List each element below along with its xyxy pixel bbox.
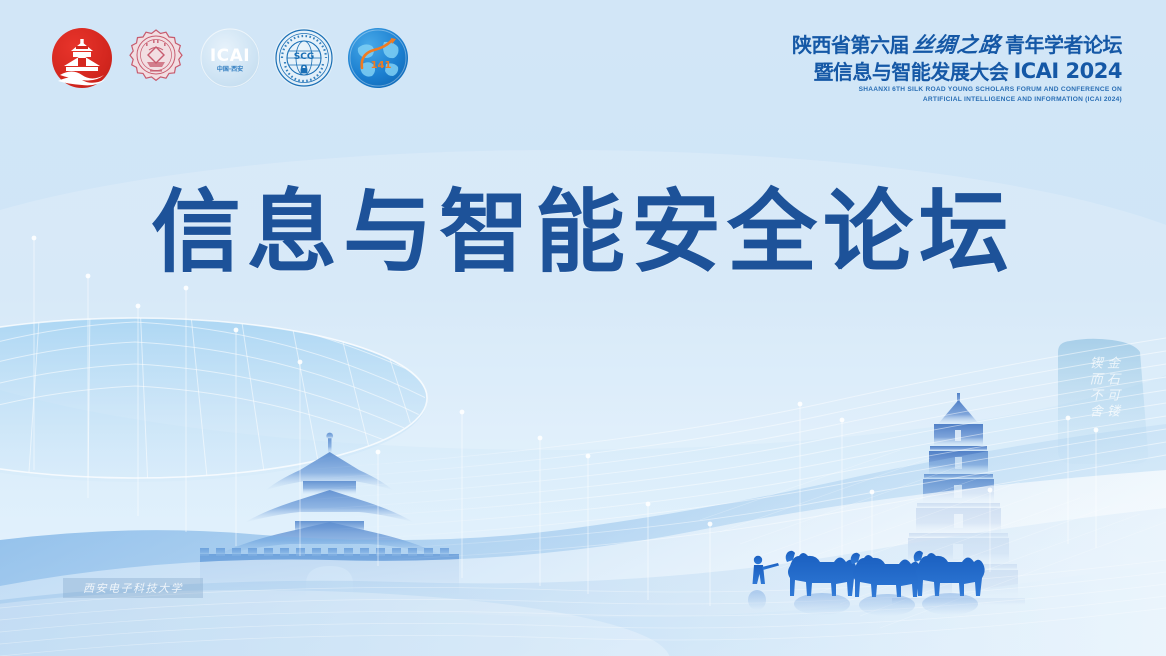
conference-english-subtitle: SHAANXI 6TH SILK ROAD YOUNG SCHOLARS FOR…	[792, 85, 1122, 104]
conference-wordmark: 陕西省第六届 丝绸之路 青年学者论坛 暨信息与智能发展大会 ICAI 2024 …	[792, 30, 1122, 104]
scg-emblem-icon: SCG	[274, 28, 334, 88]
stele-column-right: 金石可镂	[1104, 356, 1118, 466]
conference-english-line-2: ARTIFICIAL INTELLIGENCE AND INFORMATION …	[792, 95, 1122, 105]
conference-english-line-1: SHAANXI 6TH SILK ROAD YOUNG SCHOLARS FOR…	[792, 85, 1122, 95]
university-plaque-text: 西安电子科技大学	[83, 580, 183, 596]
university-plaque: 西安电子科技大学	[63, 578, 203, 598]
conference-line-1: 陕西省第六届 丝绸之路 青年学者论坛	[792, 30, 1122, 55]
svg-text:中国·西安: 中国·西安	[217, 65, 243, 73]
poster-stage: ICAI 中国·西安 SCG	[0, 0, 1166, 656]
conference-line1-tail: 青年学者论坛	[1005, 35, 1122, 55]
stele-calligraphy: 金石可镂 锲而不舍	[1054, 356, 1118, 466]
globe-emblem-icon: 141	[348, 28, 408, 88]
stele-column-left: 锲而不舍	[1086, 356, 1100, 466]
shaanxi-pagoda-emblem-icon	[52, 28, 112, 88]
svg-text:SCG: SCG	[294, 52, 314, 62]
icai-emblem-icon: ICAI 中国·西安	[200, 28, 260, 88]
conference-line1-bold: 陕西省第六届	[792, 35, 909, 55]
university-seal-emblem-icon	[126, 28, 186, 88]
conference-line2-latin: ICAI 2024	[1013, 61, 1122, 82]
conference-line-2: 暨信息与智能发展大会 ICAI 2024	[792, 56, 1122, 82]
conference-line1-script: 丝绸之路	[912, 34, 1002, 55]
conference-line2-bold: 暨信息与智能发展大会	[813, 62, 1008, 82]
forum-main-title: 信息与智能安全论坛	[0, 188, 1166, 278]
svg-text:ICAI: ICAI	[210, 46, 250, 66]
header-bar: ICAI 中国·西安 SCG	[0, 0, 1166, 110]
svg-text:141: 141	[371, 60, 392, 71]
logo-strip: ICAI 中国·西安 SCG	[52, 28, 408, 88]
